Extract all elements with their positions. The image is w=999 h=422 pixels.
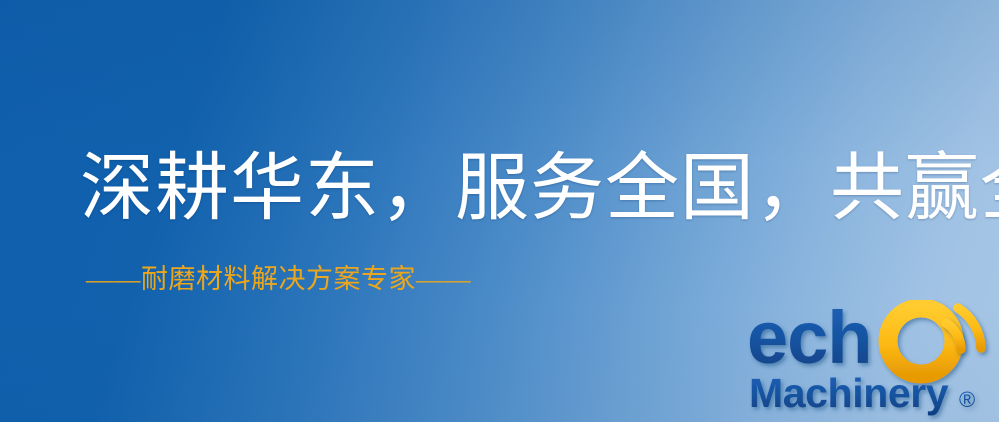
- hero-banner: 深耕华东，服务全国，共赢全球 ——耐磨材料解决方案专家——: [0, 0, 999, 422]
- page-headline: 深耕华东，服务全国，共赢全球: [80, 152, 999, 226]
- logo-tagline: Machinery ®: [749, 370, 975, 416]
- svg-text:Machinery: Machinery: [749, 370, 949, 416]
- registered-trademark-symbol: ®: [959, 387, 975, 412]
- logo-wordmark-o: [888, 308, 954, 374]
- echo-machinery-logo: ech Machinery ®: [746, 300, 999, 422]
- logo-wordmark-ech: ech: [747, 300, 872, 379]
- page-subheadline: ——耐磨材料解决方案专家——: [86, 266, 471, 293]
- svg-text:ech: ech: [747, 300, 872, 379]
